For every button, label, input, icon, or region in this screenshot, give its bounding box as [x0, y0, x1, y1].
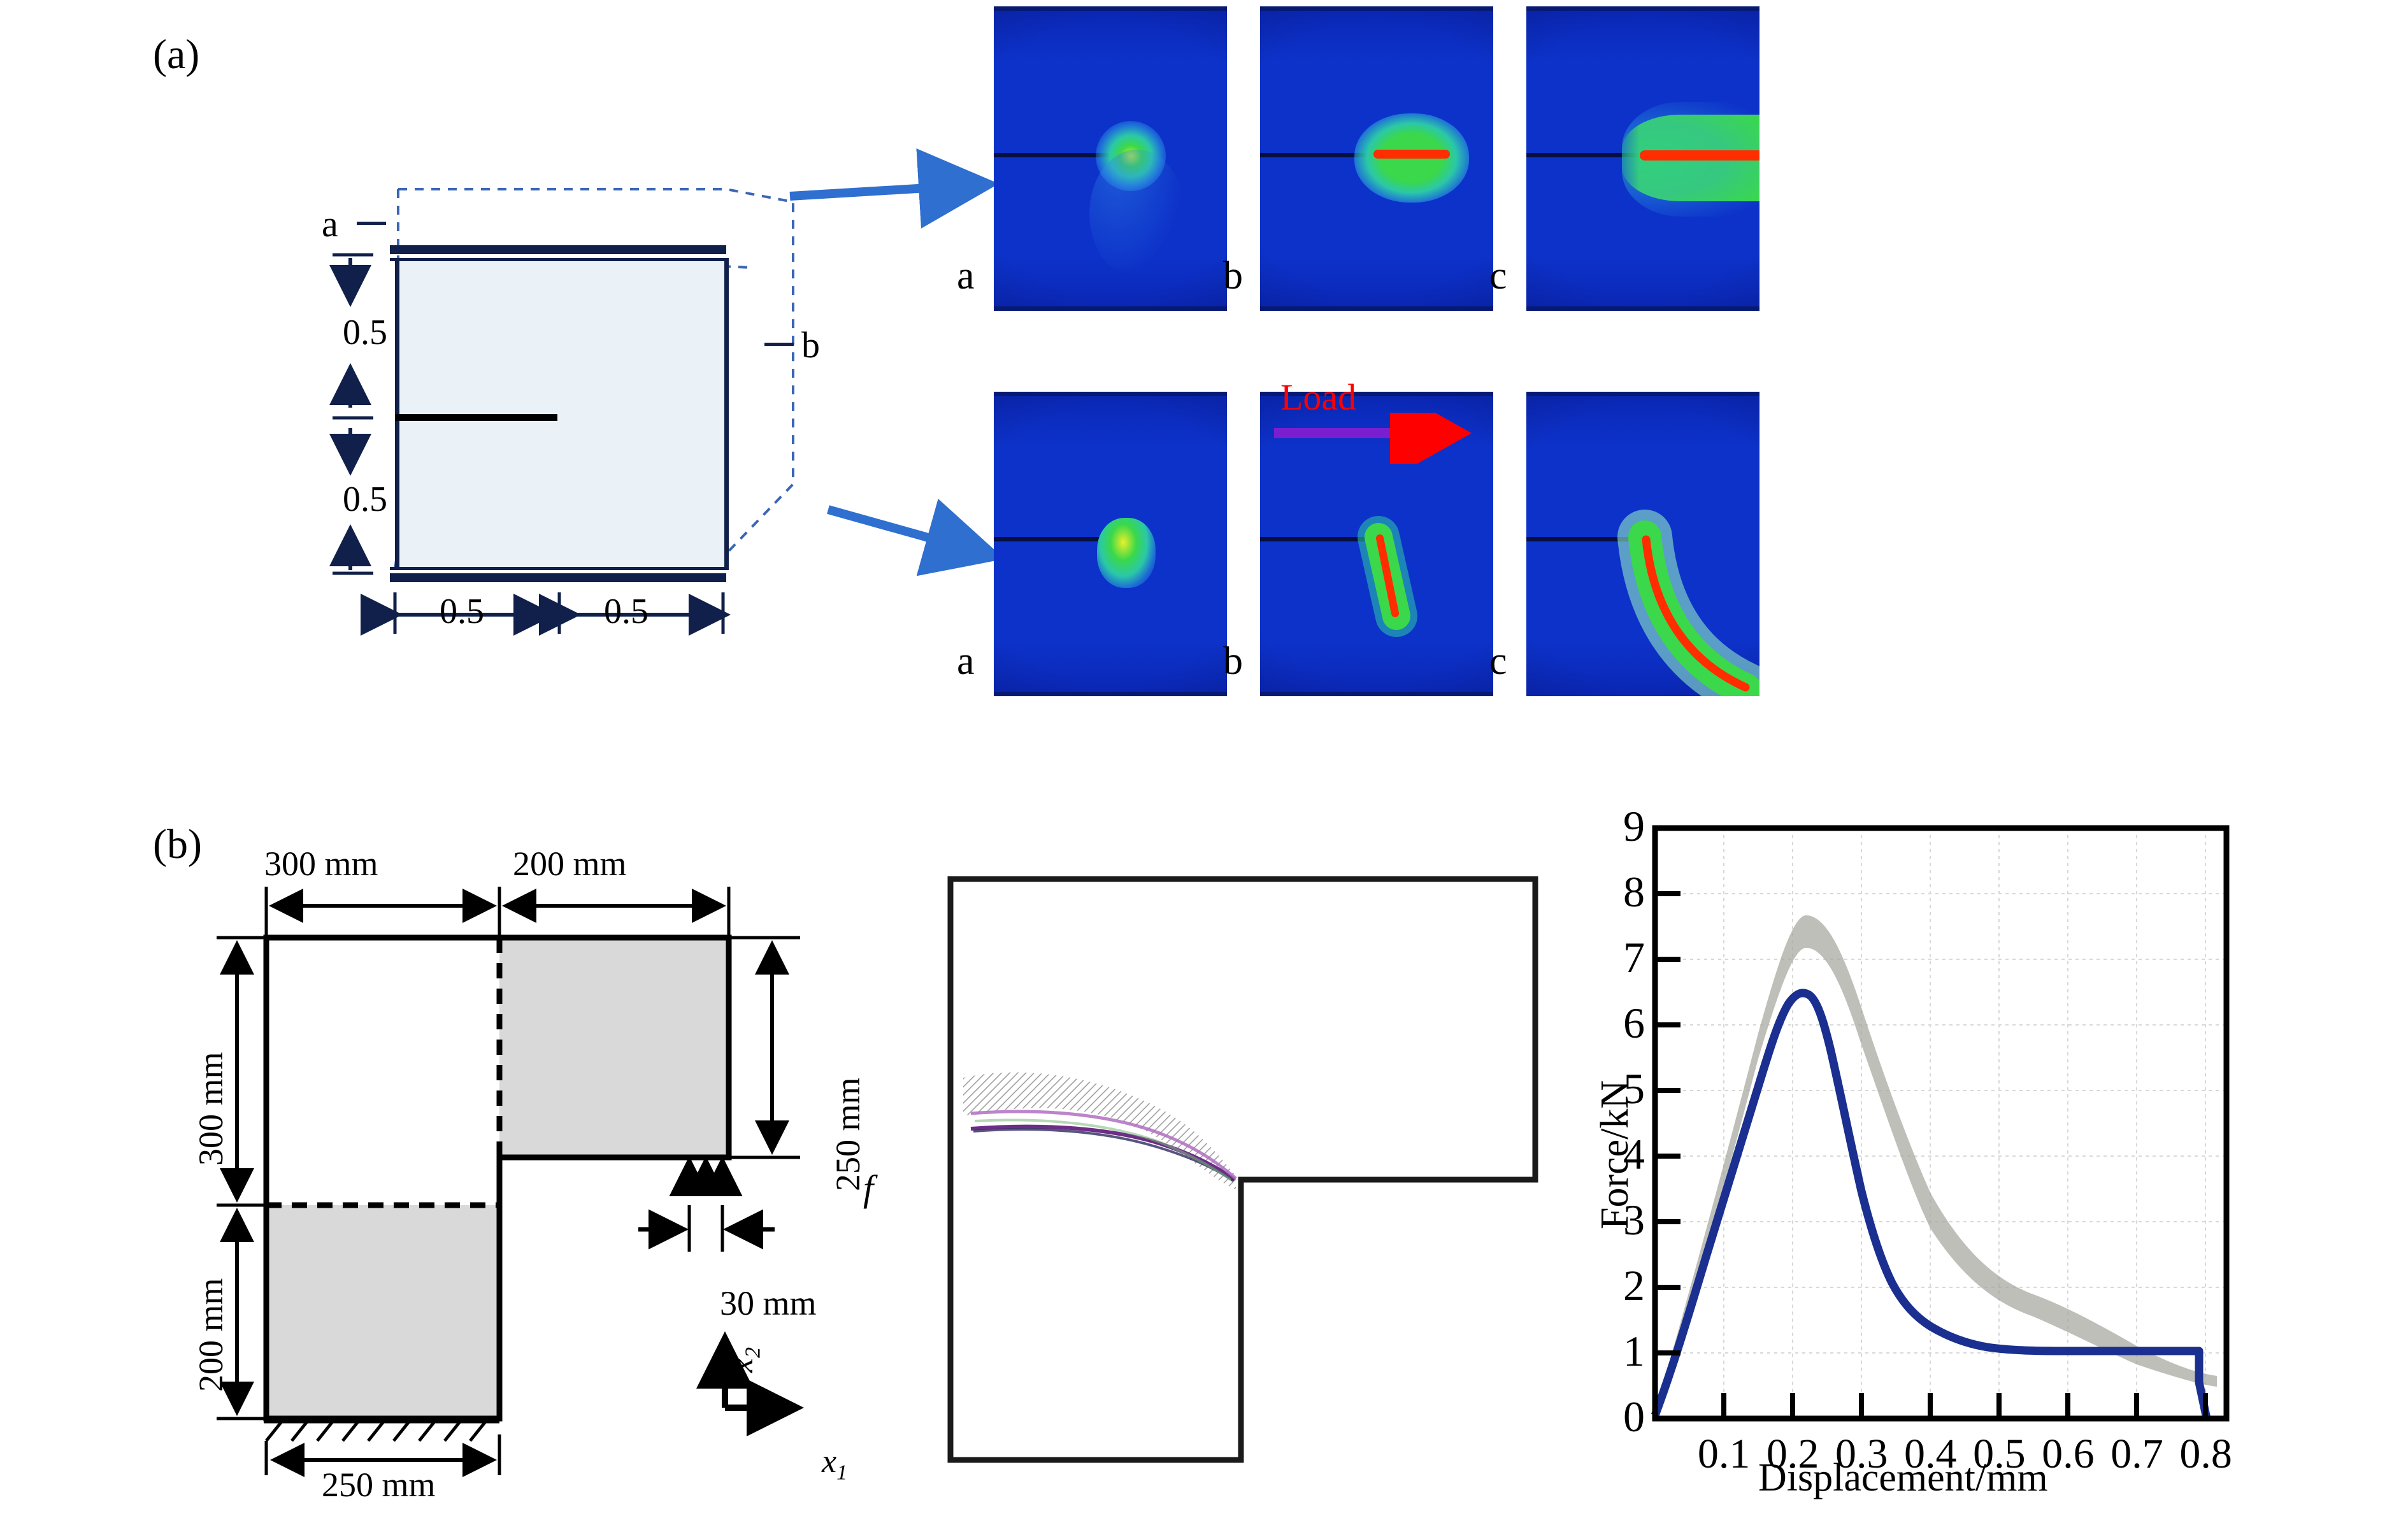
dim-label-bottom: 250 mm — [322, 1465, 436, 1505]
contour-label-bottom-a: a — [957, 639, 975, 684]
load-arrow-icon — [1268, 413, 1478, 464]
dim-label-right: 250 mm — [828, 1077, 868, 1191]
chart-y-tick-label: 0 — [1605, 1392, 1645, 1442]
experimental-scatter-band-chart — [1655, 915, 2217, 1419]
dim-label-left-upper: 300 mm — [191, 1052, 231, 1166]
panel-top-edge — [1260, 6, 1493, 11]
axis-x1-sub: 1 — [836, 1461, 847, 1484]
contour-panel-top-c — [1526, 6, 1759, 311]
panel-top-edge — [994, 392, 1227, 396]
load-arrows-f — [689, 1161, 722, 1191]
chart-y-tick-label: 6 — [1605, 998, 1645, 1048]
axis-x1-text: x — [822, 1443, 836, 1480]
load-annotation-label: Load — [1280, 376, 1356, 418]
chart-y-ticks — [1655, 894, 1681, 1353]
panel-top-edge — [994, 6, 1227, 11]
load-symbol-f: f — [863, 1167, 873, 1210]
axis-label-x2: x2 — [723, 1347, 765, 1373]
curved-crack-band — [1526, 392, 1759, 696]
panel-top-edge — [1526, 6, 1759, 11]
force-displacement-chart — [1542, 809, 2408, 1523]
dim-label-top-right: 200 mm — [513, 844, 627, 883]
contour-panel-bottom-a — [994, 392, 1227, 696]
chart-x-axis-title: Displacement/mm — [1758, 1455, 2048, 1501]
chart-y-tick-label: 9 — [1605, 801, 1645, 852]
contour-label-bottom-b: b — [1223, 639, 1243, 684]
chart-x-tick-label: 0.1 — [1684, 1430, 1763, 1478]
damage-halo — [1089, 150, 1185, 277]
leader-arrows — [752, 115, 1019, 701]
dim-label-load-width: 30 mm — [720, 1283, 817, 1323]
chart-y-tick-label: 2 — [1605, 1261, 1645, 1311]
chart-x-tick-label: 0.7 — [2098, 1430, 2177, 1478]
shaded-region-lower-left — [266, 1205, 499, 1419]
chart-y-tick-label: 8 — [1605, 867, 1645, 917]
axis-x2-text: x — [724, 1358, 760, 1373]
shaded-region-upper-right — [499, 938, 729, 1157]
dim-left-width: 0.5 — [440, 591, 484, 632]
contour-label-bottom-c: c — [1489, 639, 1507, 684]
panel-bottom-edge — [1260, 306, 1493, 311]
l-shape-outline-result — [950, 879, 1535, 1460]
contour-panel-top-a — [994, 6, 1227, 311]
dimension-load-width — [638, 1205, 775, 1252]
notch-line — [994, 537, 1115, 541]
chart-y-axis-title: Force/kN — [1593, 1080, 1638, 1229]
contour-panel-bottom-c — [1526, 392, 1759, 696]
axis-x2-sub: 2 — [741, 1347, 764, 1358]
contour-label-top-c: c — [1489, 254, 1507, 299]
panel-bottom-edge — [994, 692, 1227, 696]
fixed-support-hatching — [264, 1422, 499, 1441]
dim-right-width: 0.5 — [604, 591, 649, 632]
crack-core — [1640, 150, 1759, 161]
damage-hotspot — [1097, 518, 1156, 588]
dim-top-half: 0.5 — [343, 312, 387, 353]
chart-x-tick-label: 0.8 — [2167, 1430, 2246, 1478]
dimension-top — [266, 887, 729, 941]
crack-core — [1373, 150, 1450, 159]
panel-bottom-edge — [994, 306, 1227, 311]
contour-label-top-b: b — [1223, 254, 1243, 299]
dim-label-top-left: 300 mm — [264, 844, 378, 883]
contour-label-top-a: a — [957, 254, 975, 299]
axis-label-x1: x1 — [822, 1443, 847, 1485]
dim-bottom-half: 0.5 — [343, 479, 387, 520]
chart-x-ticks — [1724, 1393, 2205, 1419]
crack-path-result-plot — [936, 854, 1561, 1465]
chart-y-tick-label: 1 — [1605, 1326, 1645, 1376]
panel-bottom-edge — [1526, 306, 1759, 311]
l-shape-geometry-diagram — [121, 828, 936, 1522]
contour-panel-top-b — [1260, 6, 1493, 311]
dimension-right — [725, 938, 800, 1157]
dim-label-left-lower: 200 mm — [191, 1278, 231, 1392]
chart-y-tick-label: 7 — [1605, 933, 1645, 983]
